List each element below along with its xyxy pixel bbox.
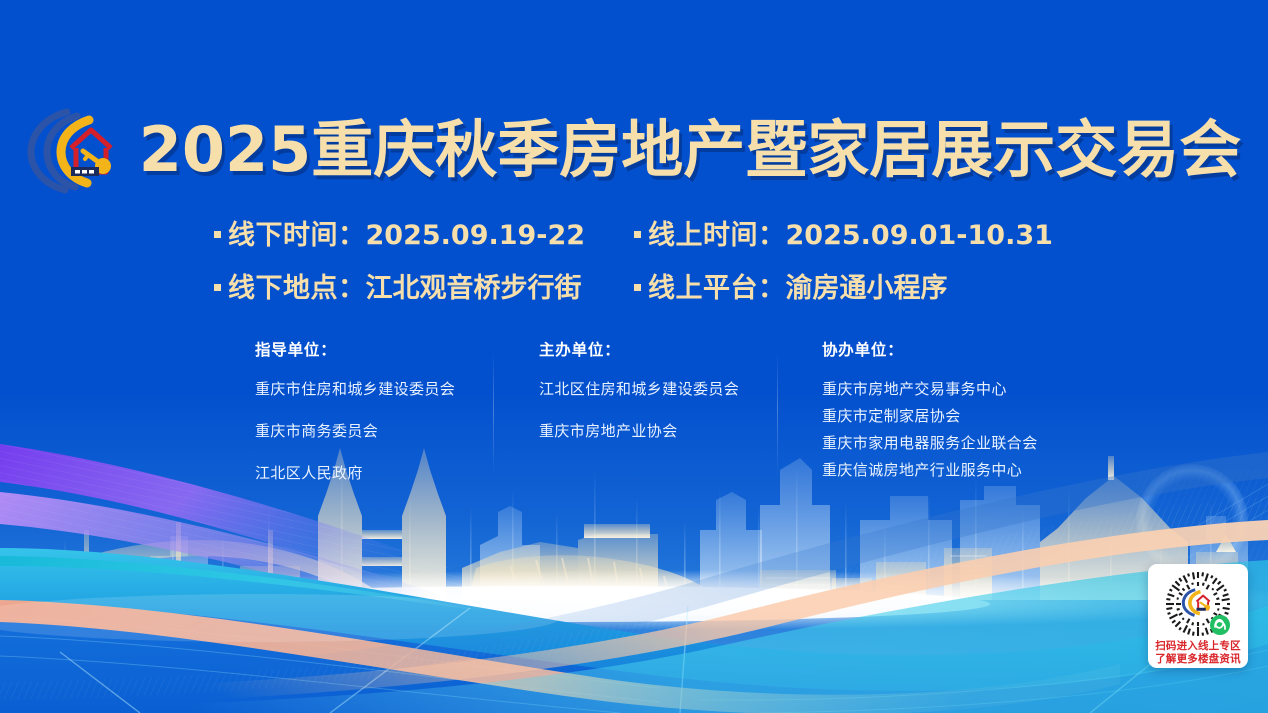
org-heading: 指导单位： <box>255 338 455 360</box>
event-schedule: 线下时间： 2025.09.19-22 线上时间： 2025.09.01-10.… <box>0 214 1268 311</box>
offline-venue: 线下地点： 江北观音桥步行街 <box>214 267 634 311</box>
poster-header: 2025重庆秋季房地产暨家居展示交易会 <box>0 104 1268 196</box>
wechat-miniprogram-qr-code[interactable] <box>1159 569 1237 639</box>
org-column-coorganizer: 协办单位： 重庆市房地产交易事务中心 重庆市定制家居协会 重庆市家用电器服务企业… <box>822 338 1038 486</box>
org-item: 江北区人民政府 <box>255 462 455 483</box>
org-column-guidance: 指导单位： 重庆市住房和城乡建设委员会 重庆市商务委员会 江北区人民政府 <box>255 338 455 504</box>
bullet-icon <box>214 284 221 291</box>
org-item: 重庆市家用电器服务企业联合会 <box>822 432 1038 453</box>
org-item: 重庆市定制家居协会 <box>822 405 1038 426</box>
org-heading: 主办单位： <box>539 338 739 360</box>
organizations-section: 指导单位： 重庆市住房和城乡建设委员会 重庆市商务委员会 江北区人民政府 主办单… <box>0 338 1268 488</box>
qr-code-card[interactable]: 扫码进入线上专区 了解更多楼盘资讯 <box>1148 564 1248 668</box>
bullet-icon <box>214 231 221 238</box>
org-item: 江北区住房和城乡建设委员会 <box>539 378 739 399</box>
offline-date: 线下时间： 2025.09.19-22 <box>214 214 634 258</box>
online-date: 线上时间： 2025.09.01-10.31 <box>634 214 1054 258</box>
org-item: 重庆市商务委员会 <box>255 420 455 441</box>
org-heading: 协办单位： <box>822 338 1038 360</box>
bullet-icon <box>634 231 641 238</box>
org-column-host: 主办单位： 江北区住房和城乡建设委员会 重庆市房地产业协会 <box>539 338 739 462</box>
wechat-miniprogram-badge-icon <box>1210 615 1230 635</box>
qr-caption: 扫码进入线上专区 了解更多楼盘资讯 <box>1155 640 1241 665</box>
qr-caption-line1: 扫码进入线上专区 <box>1155 640 1241 653</box>
event-poster: 2025重庆秋季房地产暨家居展示交易会 线下时间： 2025.09.19-22 … <box>0 0 1268 713</box>
org-item: 重庆市房地产业协会 <box>539 420 739 441</box>
org-item: 重庆信诚房地产行业服务中心 <box>822 459 1038 480</box>
org-item: 重庆市住房和城乡建设委员会 <box>255 378 455 399</box>
online-platform: 线上平台： 渝房通小程序 <box>634 267 1054 311</box>
org-item: 重庆市房地产交易事务中心 <box>822 378 1038 399</box>
qr-caption-line2: 了解更多楼盘资讯 <box>1155 653 1241 666</box>
page-title: 2025重庆秋季房地产暨家居展示交易会 <box>139 118 1242 181</box>
chongqing-housing-expo-logo-icon <box>27 104 123 196</box>
bullet-icon <box>634 284 641 291</box>
